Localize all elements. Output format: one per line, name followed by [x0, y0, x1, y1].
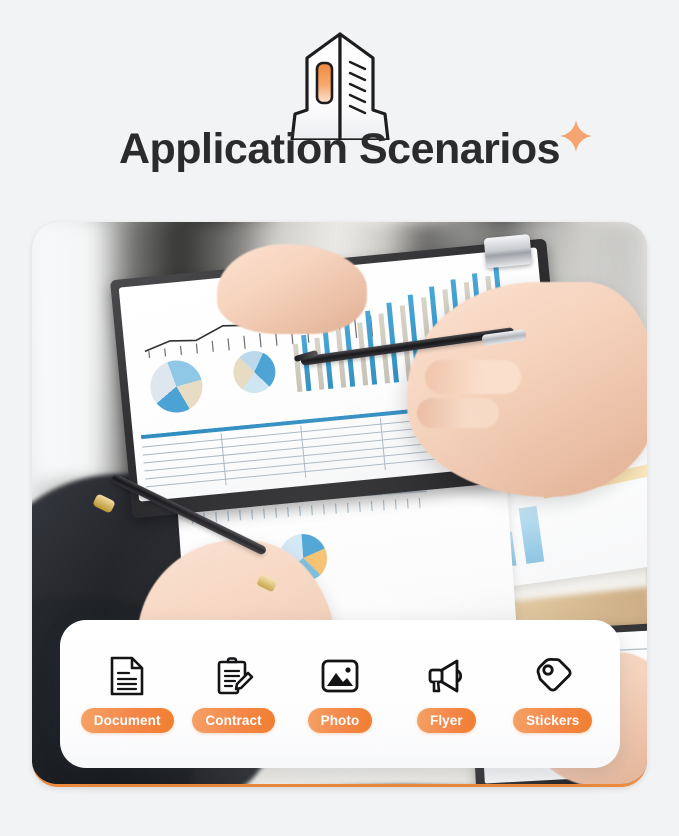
tag-icon [532, 655, 574, 697]
category-label-photo: Photo [308, 708, 373, 733]
finger [417, 398, 499, 428]
category-item-contract[interactable]: Contract [182, 655, 286, 733]
image-icon [319, 655, 361, 697]
category-label-flyer: Flyer [417, 708, 476, 733]
category-item-flyer[interactable]: Flyer [394, 655, 498, 733]
clipboard-pencil-icon [213, 655, 255, 697]
megaphone-icon [425, 655, 467, 697]
hand-holding-clipboard-left [217, 244, 367, 334]
category-label-contract: Contract [192, 708, 274, 733]
clipboard-clip-top [484, 234, 533, 268]
finger [425, 360, 521, 394]
category-item-photo[interactable]: Photo [288, 655, 392, 733]
category-item-document[interactable]: Document [75, 655, 179, 733]
page-header: Application Scenarios [0, 0, 679, 210]
category-item-stickers[interactable]: Stickers [501, 655, 605, 733]
paper-pie-chart-1 [148, 358, 205, 415]
category-card: Document Contract [60, 620, 620, 768]
sparkle-icon [559, 119, 593, 153]
building-icon [270, 30, 410, 140]
category-label-document: Document [81, 708, 174, 733]
page-title: Application Scenarios [119, 128, 560, 171]
category-label-stickers: Stickers [513, 708, 592, 733]
document-icon [106, 655, 148, 697]
paper-pie-chart-2 [231, 349, 277, 395]
